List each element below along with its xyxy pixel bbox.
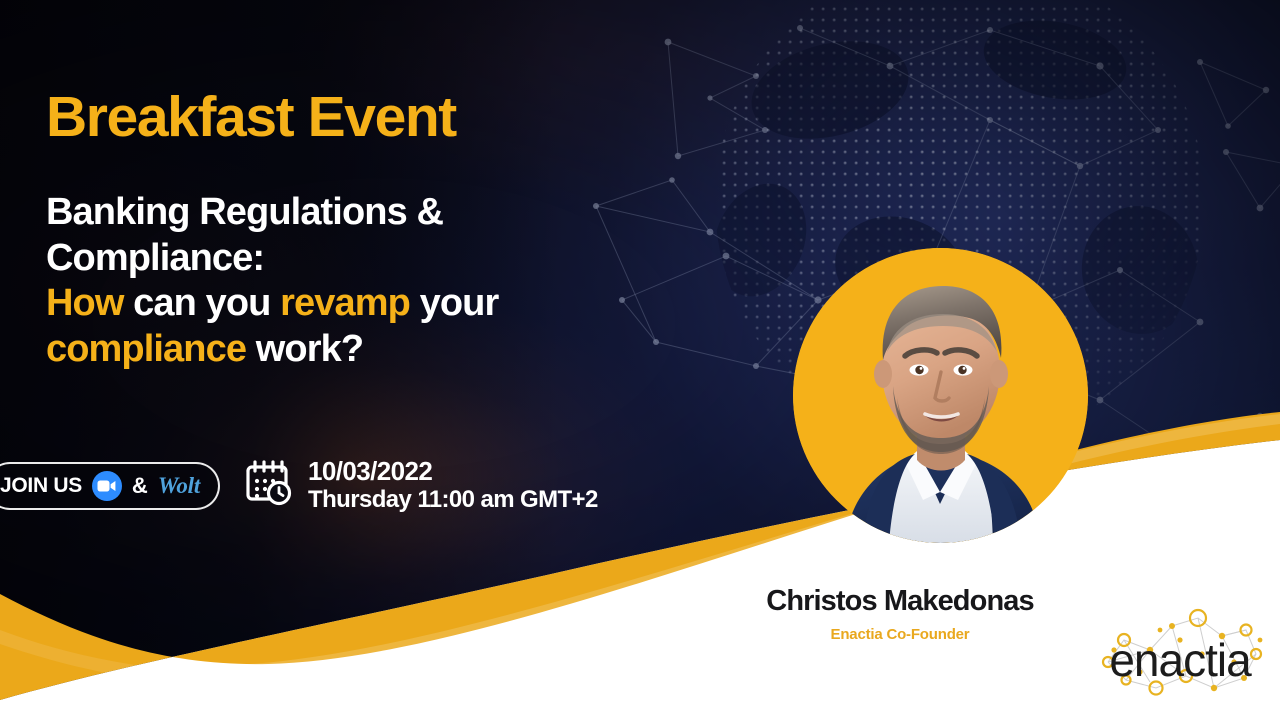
speaker-portrait (793, 248, 1088, 543)
join-us-badge[interactable]: JOIN US & Wolt (0, 462, 220, 510)
event-time: Thursday 11:00 am GMT+2 (308, 486, 598, 514)
join-info-row: JOIN US & Wolt (0, 457, 598, 514)
wolt-wordmark: Wolt (158, 473, 200, 499)
headline-line-2: Compliance: (46, 236, 666, 282)
event-datetime: 10/03/2022 Thursday 11:00 am GMT+2 (308, 457, 598, 514)
speaker-name: Christos Makedonas (700, 586, 1100, 618)
headline-line-3: How can you revamp your (46, 281, 666, 327)
speaker-info: Christos Makedonas Enactia Co-Founder (700, 586, 1100, 643)
event-headline: Banking Regulations & Compliance: How ca… (46, 190, 666, 372)
calendar-clock-icon (242, 457, 294, 514)
headline-revamp: revamp (280, 282, 410, 324)
promo-banner: Breakfast Event Banking Regulations & Co… (0, 0, 1280, 720)
headline-how: How (46, 282, 124, 324)
event-kicker: Breakfast Event (46, 88, 666, 146)
headline-canyou: can you (124, 282, 281, 324)
headline-block: Breakfast Event Banking Regulations & Co… (46, 88, 666, 373)
headline-work: work? (246, 328, 363, 370)
speaker-role: Enactia Co-Founder (700, 626, 1100, 643)
join-us-label: JOIN US (0, 474, 82, 498)
ampersand-label: & (132, 473, 148, 499)
zoom-video-icon (92, 471, 122, 501)
event-date: 10/03/2022 (308, 457, 598, 486)
headline-line-4: compliance work? (46, 327, 666, 373)
headline-compliance: compliance (46, 328, 246, 370)
headline-line-1: Banking Regulations & (46, 190, 666, 236)
headline-your: your (410, 282, 498, 324)
logo-wordmark: enactia (1109, 634, 1252, 686)
enactia-logo: enactia (1094, 596, 1266, 708)
